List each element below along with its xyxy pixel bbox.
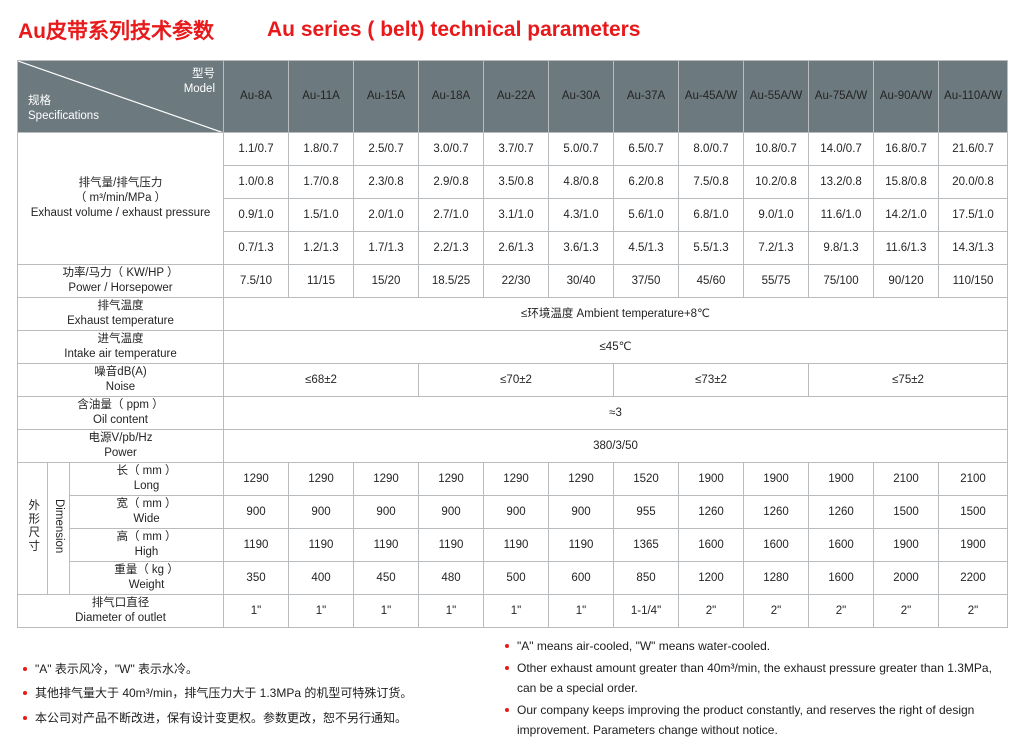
cell-exhaust-value: 3.7/0.7 <box>484 133 549 166</box>
cell-dimension-value: 900 <box>419 496 484 529</box>
cell-dimension-value: 1190 <box>224 529 289 562</box>
cell-exhaust-value: 13.2/0.8 <box>809 166 874 199</box>
footnote-en-1: "A" means air-cooled, "W" means water-co… <box>504 637 1004 656</box>
cell-power-value: 90/120 <box>874 265 939 298</box>
cell-outlet-value: 1" <box>484 595 549 628</box>
cell-power-value: 11/15 <box>289 265 354 298</box>
cell-exhaust-value: 15.8/0.8 <box>874 166 939 199</box>
row-label-dimension-weight: 重量（ kg ）Weight <box>70 562 224 595</box>
cell-power-value: 55/75 <box>744 265 809 298</box>
cell-dimension-value: 1600 <box>744 529 809 562</box>
cell-exhaust-value: 10.8/0.7 <box>744 133 809 166</box>
cell-exhaust-value: 2.9/0.8 <box>419 166 484 199</box>
cell-exhaust-value: 10.2/0.8 <box>744 166 809 199</box>
cell-exhaust-value: 5.0/0.7 <box>549 133 614 166</box>
cell-dimension-value: 1290 <box>224 463 289 496</box>
header-model-au-11a: Au-11A <box>289 61 354 133</box>
cell-dimension-value: 2100 <box>939 463 1008 496</box>
cell-dimension-value: 400 <box>289 562 354 595</box>
cell-power-value: 22/30 <box>484 265 549 298</box>
cell-exhaust-value: 16.8/0.7 <box>874 133 939 166</box>
cell-dimension-value: 480 <box>419 562 484 595</box>
header-label-specifications: 规格Specifications <box>28 94 99 124</box>
header-model-au-18a: Au-18A <box>419 61 484 133</box>
cell-outlet-value: 2" <box>874 595 939 628</box>
cell-exhaust-value: 2.0/1.0 <box>354 199 419 232</box>
cell-dimension-value: 1190 <box>484 529 549 562</box>
header-model-au-8a: Au-8A <box>224 61 289 133</box>
cell-exhaust-value: 5.5/1.3 <box>679 232 744 265</box>
cell-exhaust-value: 1.5/1.0 <box>289 199 354 232</box>
cell-intake-temperature-value: ≤45℃ <box>224 331 1008 364</box>
dimension-label-vertical: 外形尺寸 <box>27 499 39 553</box>
row-label-dimension-en: Dimension <box>48 463 70 595</box>
cell-dimension-value: 1900 <box>809 463 874 496</box>
cell-dimension-value: 1900 <box>744 463 809 496</box>
cell-exhaust-value: 4.3/1.0 <box>549 199 614 232</box>
spec-table: 型号Model规格SpecificationsAu-8AAu-11AAu-15A… <box>17 60 1008 628</box>
cell-dimension-value: 2100 <box>874 463 939 496</box>
cell-exhaust-value: 4.5/1.3 <box>614 232 679 265</box>
cell-exhaust-value: 9.8/1.3 <box>809 232 874 265</box>
cell-dimension-value: 1600 <box>679 529 744 562</box>
cell-exhaust-value: 2.6/1.3 <box>484 232 549 265</box>
cell-exhaust-value: 21.6/0.7 <box>939 133 1008 166</box>
cell-dimension-value: 900 <box>354 496 419 529</box>
cell-dimension-value: 2200 <box>939 562 1008 595</box>
cell-exhaust-value: 2.2/1.3 <box>419 232 484 265</box>
cell-dimension-value: 1290 <box>549 463 614 496</box>
cell-dimension-value: 1500 <box>874 496 939 529</box>
cell-dimension-value: 900 <box>224 496 289 529</box>
cell-exhaust-value: 11.6/1.0 <box>809 199 874 232</box>
spec-sheet-page: Au皮带系列技术参数 Au series ( belt) technical p… <box>0 0 1024 751</box>
cell-exhaust-value: 5.6/1.0 <box>614 199 679 232</box>
cell-dimension-value: 1600 <box>809 529 874 562</box>
cell-exhaust-temperature-value: ≤环境温度 Ambient temperature+8℃ <box>224 298 1008 331</box>
cell-dimension-value: 900 <box>549 496 614 529</box>
cell-power-value: 30/40 <box>549 265 614 298</box>
cell-exhaust-value: 6.2/0.8 <box>614 166 679 199</box>
cell-exhaust-value: 1.7/1.3 <box>354 232 419 265</box>
header-model-au-110a-w: Au-110A/W <box>939 61 1008 133</box>
cell-power-value: 75/100 <box>809 265 874 298</box>
cell-dimension-value: 1260 <box>744 496 809 529</box>
row-label-oil-content: 含油量（ ppm ）Oil content <box>18 397 224 430</box>
cell-outlet-value: 1" <box>289 595 354 628</box>
footnote-cn-2: 其他排气量大于 40m³/min，排气压力大于 1.3MPa 的机型可特殊订货。 <box>22 684 492 703</box>
cell-exhaust-value: 1.2/1.3 <box>289 232 354 265</box>
cell-noise-group-3: ≤73±2 <box>614 364 809 397</box>
header-model-au-90a-w: Au-90A/W <box>874 61 939 133</box>
cell-exhaust-value: 14.2/1.0 <box>874 199 939 232</box>
cell-power-value: 18.5/25 <box>419 265 484 298</box>
footnotes-chinese: "A" 表示风冷，"W" 表示水冷。其他排气量大于 40m³/min，排气压力大… <box>22 660 492 733</box>
page-title-en: Au series ( belt) technical parameters <box>267 18 640 42</box>
cell-exhaust-value: 3.0/0.7 <box>419 133 484 166</box>
cell-exhaust-value: 0.9/1.0 <box>224 199 289 232</box>
cell-dimension-value: 1290 <box>289 463 354 496</box>
cell-outlet-value: 2" <box>744 595 809 628</box>
cell-dimension-value: 2000 <box>874 562 939 595</box>
cell-power-value: 110/150 <box>939 265 1008 298</box>
cell-dimension-value: 500 <box>484 562 549 595</box>
cell-exhaust-value: 11.6/1.3 <box>874 232 939 265</box>
cell-exhaust-value: 6.8/1.0 <box>679 199 744 232</box>
cell-outlet-value: 1" <box>354 595 419 628</box>
cell-outlet-value: 1-1/4" <box>614 595 679 628</box>
footnote-en-3: Our company keeps improving the product … <box>504 701 1004 740</box>
row-label-intake-air-temperature: 进气温度Intake air temperature <box>18 331 224 364</box>
row-label-dimension-high: 高（ mm ）High <box>70 529 224 562</box>
cell-exhaust-value: 9.0/1.0 <box>744 199 809 232</box>
cell-exhaust-value: 20.0/0.8 <box>939 166 1008 199</box>
cell-dimension-value: 1190 <box>289 529 354 562</box>
footnote-en-2: Other exhaust amount greater than 40m³/m… <box>504 659 1004 698</box>
cell-exhaust-value: 2.3/0.8 <box>354 166 419 199</box>
cell-exhaust-value: 17.5/1.0 <box>939 199 1008 232</box>
cell-exhaust-value: 1.8/0.7 <box>289 133 354 166</box>
cell-outlet-value: 2" <box>939 595 1008 628</box>
cell-exhaust-value: 7.5/0.8 <box>679 166 744 199</box>
footnote-cn-1: "A" 表示风冷，"W" 表示水冷。 <box>22 660 492 679</box>
cell-dimension-value: 1500 <box>939 496 1008 529</box>
cell-dimension-value: 1190 <box>419 529 484 562</box>
cell-outlet-value: 1" <box>224 595 289 628</box>
cell-dimension-value: 900 <box>484 496 549 529</box>
row-label-exhaust-temperature: 排气温度Exhaust temperature <box>18 298 224 331</box>
footnote-cn-3: 本公司对产品不断改进，保有设计变更权。参数更改，恕不另行通知。 <box>22 709 492 728</box>
header-corner-cell: 型号Model规格Specifications <box>18 61 224 133</box>
cell-exhaust-value: 3.5/0.8 <box>484 166 549 199</box>
cell-dimension-value: 350 <box>224 562 289 595</box>
cell-exhaust-value: 2.7/1.0 <box>419 199 484 232</box>
cell-exhaust-value: 1.7/0.8 <box>289 166 354 199</box>
footnotes-english: "A" means air-cooled, "W" means water-co… <box>504 637 1004 743</box>
row-label-dimension-wide: 宽（ mm ）Wide <box>70 496 224 529</box>
cell-exhaust-value: 3.6/1.3 <box>549 232 614 265</box>
cell-exhaust-value: 1.1/0.7 <box>224 133 289 166</box>
header-model-au-75a-w: Au-75A/W <box>809 61 874 133</box>
cell-dimension-value: 1900 <box>939 529 1008 562</box>
cell-outlet-value: 1" <box>549 595 614 628</box>
cell-power-supply-value: 380/3/50 <box>224 430 1008 463</box>
header-model-au-37a: Au-37A <box>614 61 679 133</box>
cell-dimension-value: 1900 <box>874 529 939 562</box>
cell-exhaust-value: 14.3/1.3 <box>939 232 1008 265</box>
cell-dimension-value: 1260 <box>809 496 874 529</box>
row-label-dimension-cn: 外形尺寸 <box>18 463 48 595</box>
cell-noise-group-1: ≤68±2 <box>224 364 419 397</box>
header-label-model: 型号Model <box>184 67 215 97</box>
cell-outlet-value: 1" <box>419 595 484 628</box>
row-label-diameter-of-outlet: 排气口直径Diameter of outlet <box>18 595 224 628</box>
cell-exhaust-value: 8.0/0.7 <box>679 133 744 166</box>
cell-power-value: 7.5/10 <box>224 265 289 298</box>
cell-exhaust-value: 3.1/1.0 <box>484 199 549 232</box>
row-label-exhaust-volume-pressure: 排气量/排气压力（ m³/min/MPa ）Exhaust volume / e… <box>18 133 224 265</box>
cell-exhaust-value: 14.0/0.7 <box>809 133 874 166</box>
spec-table-wrapper: 型号Model规格SpecificationsAu-8AAu-11AAu-15A… <box>17 60 1007 628</box>
dimension-label-rotated: Dimension <box>51 499 66 553</box>
page-title: Au皮带系列技术参数 Au series ( belt) technical p… <box>18 12 1006 48</box>
cell-dimension-value: 955 <box>614 496 679 529</box>
cell-dimension-value: 1190 <box>549 529 614 562</box>
cell-exhaust-value: 6.5/0.7 <box>614 133 679 166</box>
cell-dimension-value: 900 <box>289 496 354 529</box>
cell-dimension-value: 1365 <box>614 529 679 562</box>
cell-exhaust-value: 0.7/1.3 <box>224 232 289 265</box>
cell-outlet-value: 2" <box>809 595 874 628</box>
cell-dimension-value: 1600 <box>809 562 874 595</box>
cell-exhaust-value: 7.2/1.3 <box>744 232 809 265</box>
cell-dimension-value: 1280 <box>744 562 809 595</box>
cell-dimension-value: 1520 <box>614 463 679 496</box>
header-model-au-55a-w: Au-55A/W <box>744 61 809 133</box>
cell-noise-group-4: ≤75±2 <box>809 364 1008 397</box>
cell-noise-group-2: ≤70±2 <box>419 364 614 397</box>
page-title-cn: Au皮带系列技术参数 <box>18 15 214 45</box>
cell-oil-content-value: ≈3 <box>224 397 1008 430</box>
cell-exhaust-value: 4.8/0.8 <box>549 166 614 199</box>
row-label-noise: 噪音dB(A)Noise <box>18 364 224 397</box>
cell-outlet-value: 2" <box>679 595 744 628</box>
row-label-power-horsepower: 功率/马力（ KW/HP ）Power / Horsepower <box>18 265 224 298</box>
header-model-au-30a: Au-30A <box>549 61 614 133</box>
cell-dimension-value: 1190 <box>354 529 419 562</box>
cell-dimension-value: 850 <box>614 562 679 595</box>
header-model-au-22a: Au-22A <box>484 61 549 133</box>
cell-dimension-value: 600 <box>549 562 614 595</box>
cell-dimension-value: 1290 <box>484 463 549 496</box>
cell-exhaust-value: 2.5/0.7 <box>354 133 419 166</box>
row-label-power-supply: 电源V/pb/HzPower <box>18 430 224 463</box>
cell-power-value: 15/20 <box>354 265 419 298</box>
cell-power-value: 45/60 <box>679 265 744 298</box>
cell-dimension-value: 1200 <box>679 562 744 595</box>
header-model-au-45a-w: Au-45A/W <box>679 61 744 133</box>
cell-dimension-value: 1290 <box>354 463 419 496</box>
cell-dimension-value: 450 <box>354 562 419 595</box>
cell-power-value: 37/50 <box>614 265 679 298</box>
row-label-dimension-long: 长（ mm ）Long <box>70 463 224 496</box>
cell-dimension-value: 1260 <box>679 496 744 529</box>
cell-dimension-value: 1290 <box>419 463 484 496</box>
cell-exhaust-value: 1.0/0.8 <box>224 166 289 199</box>
cell-dimension-value: 1900 <box>679 463 744 496</box>
header-model-au-15a: Au-15A <box>354 61 419 133</box>
